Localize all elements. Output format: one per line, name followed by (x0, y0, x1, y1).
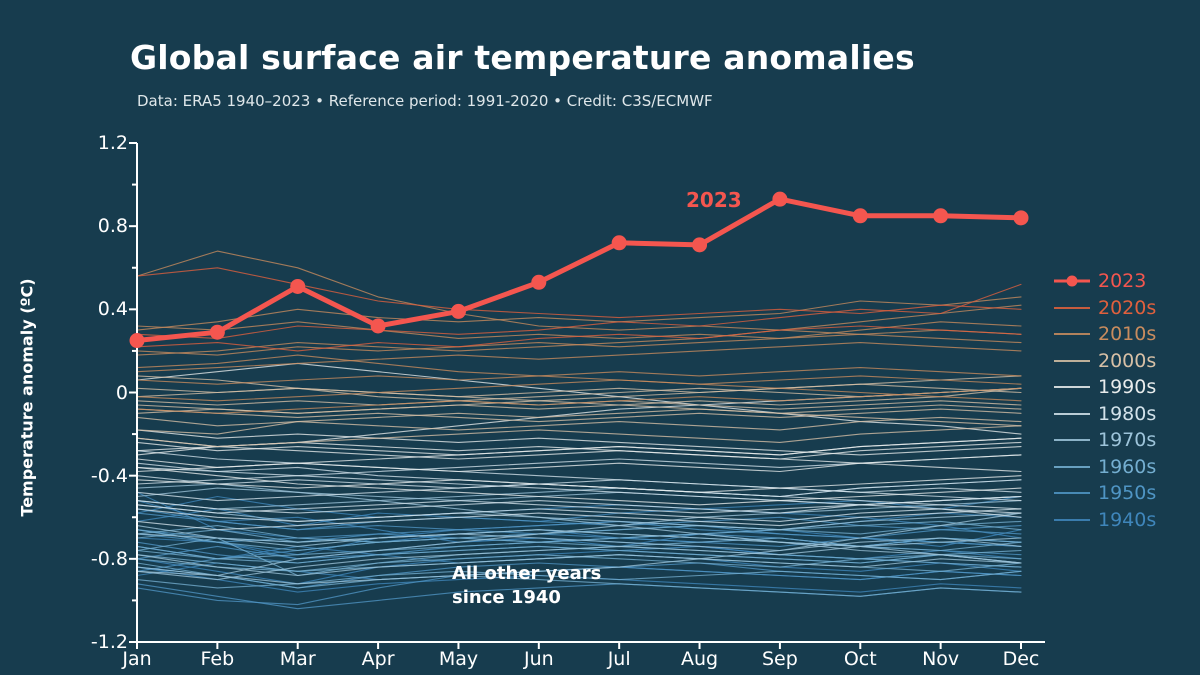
series-line (137, 455, 1021, 484)
legend-label: 1970s (1098, 429, 1156, 451)
legend-item[interactable]: 1980s (1052, 401, 1200, 428)
annotation-2023: 2023 (686, 188, 742, 212)
legend-swatch-icon (1052, 324, 1092, 344)
legend-item[interactable]: 2000s (1052, 348, 1200, 375)
highlight-data-point (692, 237, 707, 252)
highlight-data-point (1014, 210, 1029, 225)
x-tick-label: Sep (762, 648, 798, 670)
highlight-data-point (451, 304, 466, 319)
legend-label: 1940s (1098, 509, 1156, 531)
legend-label: 2023 (1098, 270, 1146, 292)
x-tick-label: Jul (608, 648, 631, 670)
series-line (137, 268, 1021, 318)
highlight-data-point (130, 333, 145, 348)
highlight-data-point (531, 275, 546, 290)
highlight-data-point (371, 318, 386, 333)
series-line (137, 430, 1021, 455)
highlight-data-point (772, 192, 787, 207)
highlight-series-2023 (130, 192, 1029, 348)
series-line (137, 376, 1021, 426)
legend-item[interactable]: 1950s (1052, 480, 1200, 507)
highlight-data-point (290, 279, 305, 294)
legend-label: 2020s (1098, 297, 1156, 319)
legend-swatch-icon (1052, 404, 1092, 424)
x-tick-label: May (439, 648, 478, 670)
y-tick-label: -0.8 (91, 548, 128, 570)
annotation-other-years: All other years since 1940 (452, 562, 601, 610)
series-line (137, 376, 1021, 401)
series-line (137, 438, 1021, 471)
series-line (137, 326, 1021, 351)
legend-swatch-icon (1052, 271, 1092, 291)
legend-swatch-icon (1052, 430, 1092, 450)
y-tick-label: 0.8 (98, 215, 128, 237)
series-line (137, 330, 1021, 355)
x-tick-label: Mar (280, 648, 316, 670)
legend-item[interactable]: 1960s (1052, 454, 1200, 481)
legend-item[interactable]: 1970s (1052, 427, 1200, 454)
series-line (137, 426, 1021, 447)
legend-item[interactable]: 2020s (1052, 295, 1200, 322)
x-tick-label: Nov (922, 648, 959, 670)
chart-legend: 20232020s2010s2000s1990s1980s1970s1960s1… (1052, 268, 1200, 533)
y-tick-label: 1.2 (98, 132, 128, 154)
highlight-data-point (612, 235, 627, 250)
highlight-data-point (210, 325, 225, 340)
y-tick-label: 0.4 (98, 298, 128, 320)
series-line (137, 438, 1021, 471)
series-line (137, 355, 1021, 401)
y-axis-ticks: -1.2-0.8-0.400.40.81.2 (60, 0, 128, 675)
legend-item[interactable]: 1940s (1052, 507, 1200, 534)
annotation-other-line1: All other years (452, 562, 601, 586)
y-tick-label: -0.4 (91, 465, 128, 487)
x-tick-label: Aug (681, 648, 718, 670)
x-tick-label: Dec (1003, 648, 1040, 670)
highlight-data-point (853, 208, 868, 223)
x-tick-label: Oct (844, 648, 877, 670)
legend-swatch-icon (1052, 483, 1092, 503)
legend-swatch-icon (1052, 351, 1092, 371)
series-line (137, 451, 1021, 501)
x-tick-label: Jan (122, 648, 151, 670)
legend-item[interactable]: 2010s (1052, 321, 1200, 348)
legend-label: 2010s (1098, 323, 1156, 345)
highlight-data-point (933, 208, 948, 223)
x-tick-label: Jun (524, 648, 554, 670)
series-line (137, 284, 1021, 338)
legend-label: 2000s (1098, 350, 1156, 372)
legend-label: 1960s (1098, 456, 1156, 478)
legend-swatch-icon (1052, 298, 1092, 318)
legend-label: 1990s (1098, 376, 1156, 398)
x-tick-label: Apr (362, 648, 395, 670)
chart-root: Global surface air temperature anomalies… (0, 0, 1200, 675)
legend-label: 1980s (1098, 403, 1156, 425)
legend-label: 1950s (1098, 482, 1156, 504)
legend-item[interactable]: 2023 (1052, 268, 1200, 295)
series-line (137, 343, 1021, 372)
x-tick-label: Feb (201, 648, 235, 670)
legend-swatch-icon (1052, 457, 1092, 477)
legend-swatch-icon (1052, 510, 1092, 530)
annotation-other-line2: since 1940 (452, 586, 601, 610)
legend-swatch-icon (1052, 377, 1092, 397)
y-tick-label: 0 (116, 382, 128, 404)
legend-item[interactable]: 1990s (1052, 374, 1200, 401)
